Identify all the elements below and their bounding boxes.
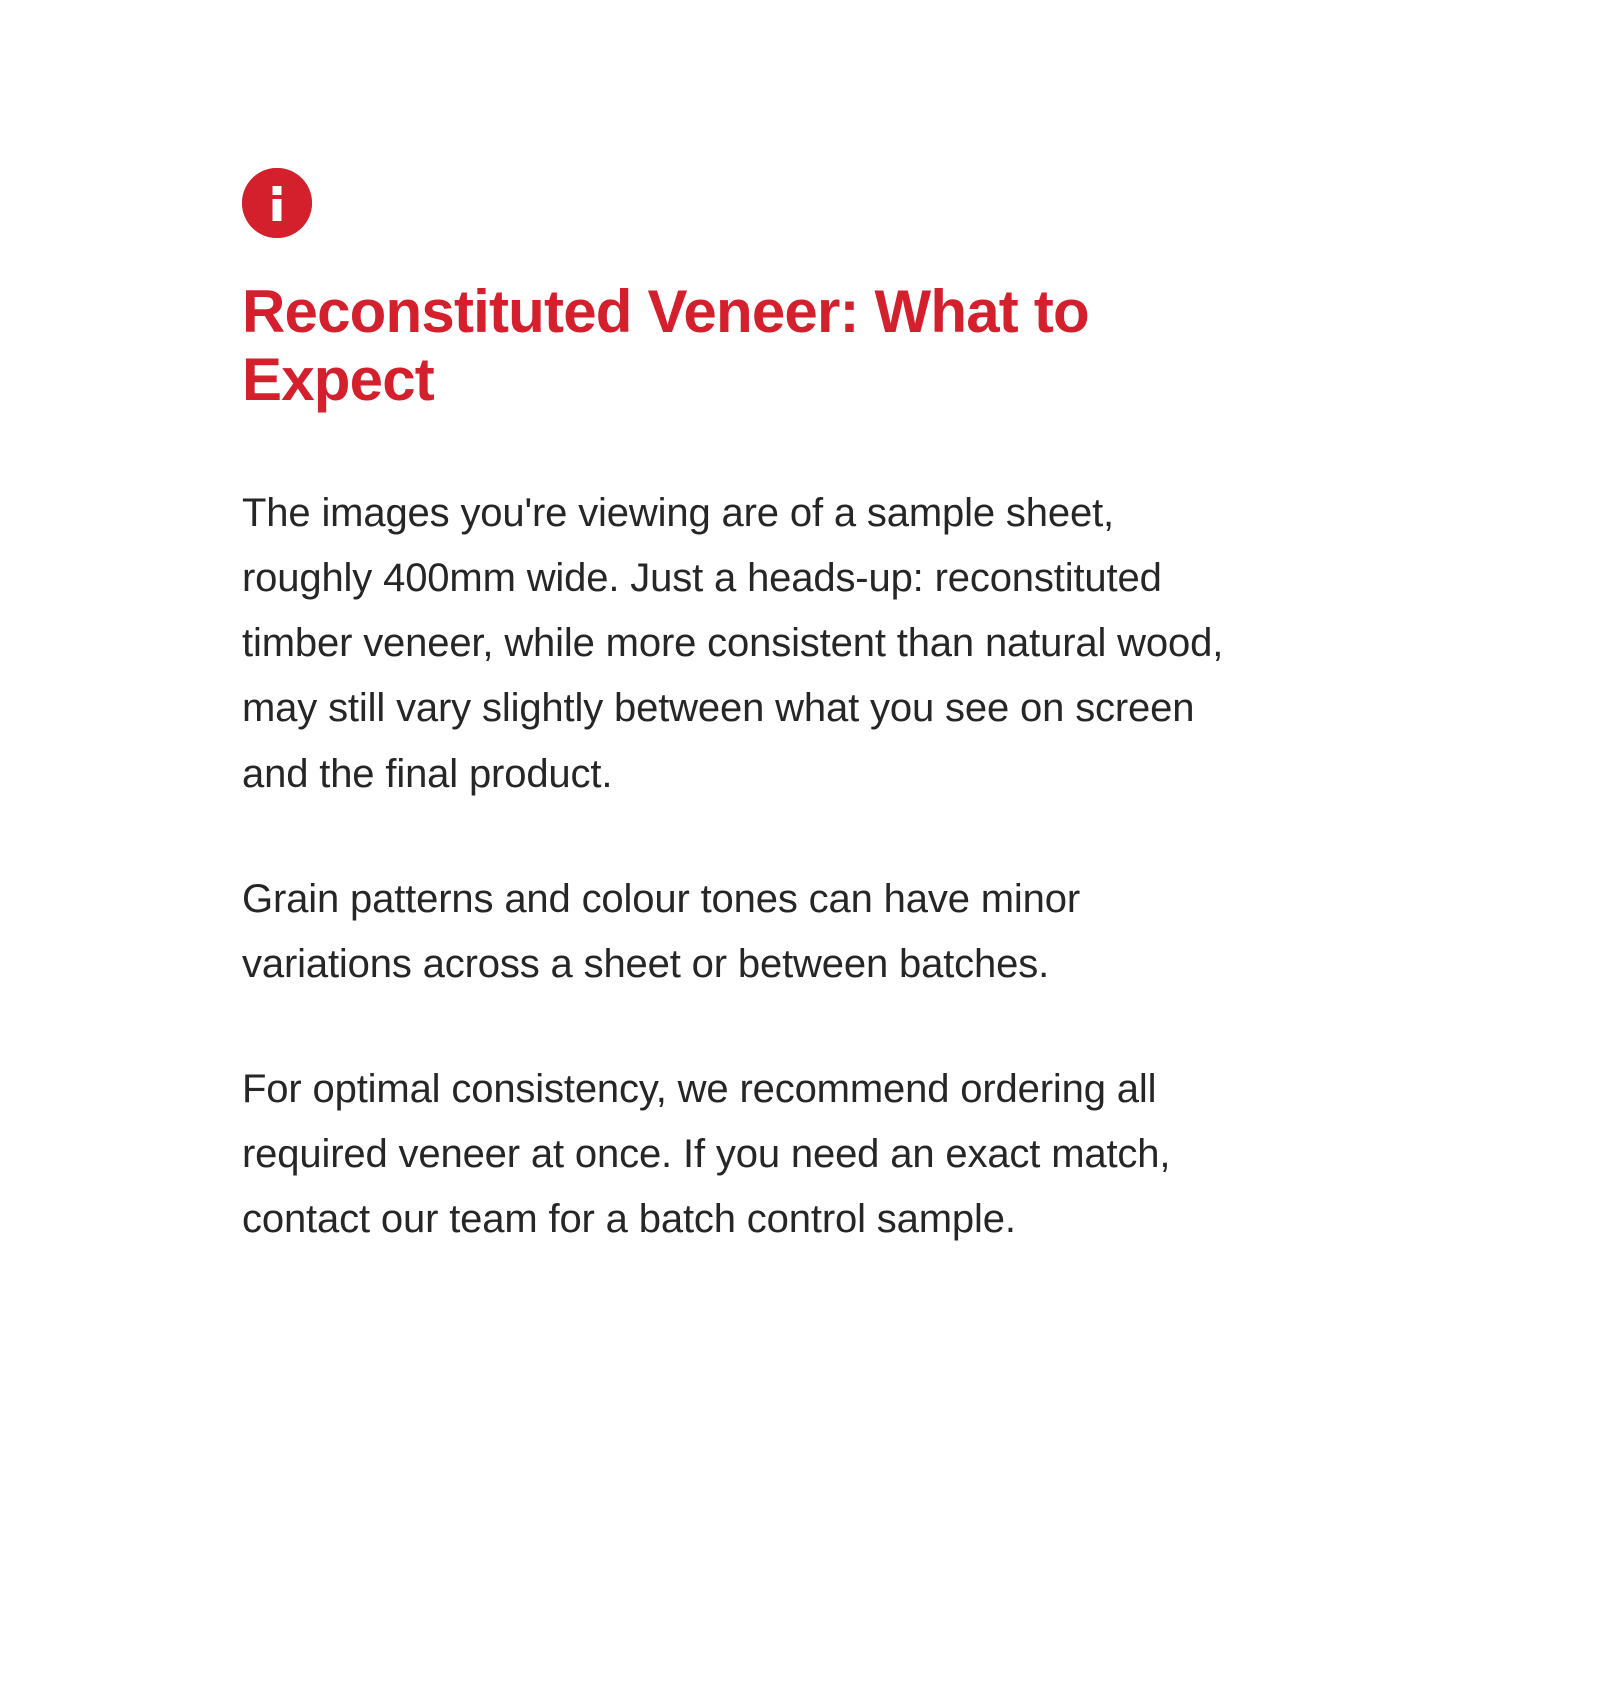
info-icon-row bbox=[242, 168, 1242, 240]
page-root: Reconstituted Veneer: What to Expect The… bbox=[0, 0, 1620, 1686]
body-paragraph-3: For optimal consistency, we recommend or… bbox=[242, 1057, 1242, 1253]
body-paragraph-2: Grain patterns and colour tones can have… bbox=[242, 867, 1242, 997]
info-panel: Reconstituted Veneer: What to Expect The… bbox=[242, 168, 1242, 1253]
page-title: Reconstituted Veneer: What to Expect bbox=[242, 278, 1242, 415]
info-circle-icon bbox=[242, 168, 312, 238]
info-panel-body: The images you're viewing are of a sampl… bbox=[242, 481, 1242, 1253]
body-paragraph-1: The images you're viewing are of a sampl… bbox=[242, 481, 1242, 807]
